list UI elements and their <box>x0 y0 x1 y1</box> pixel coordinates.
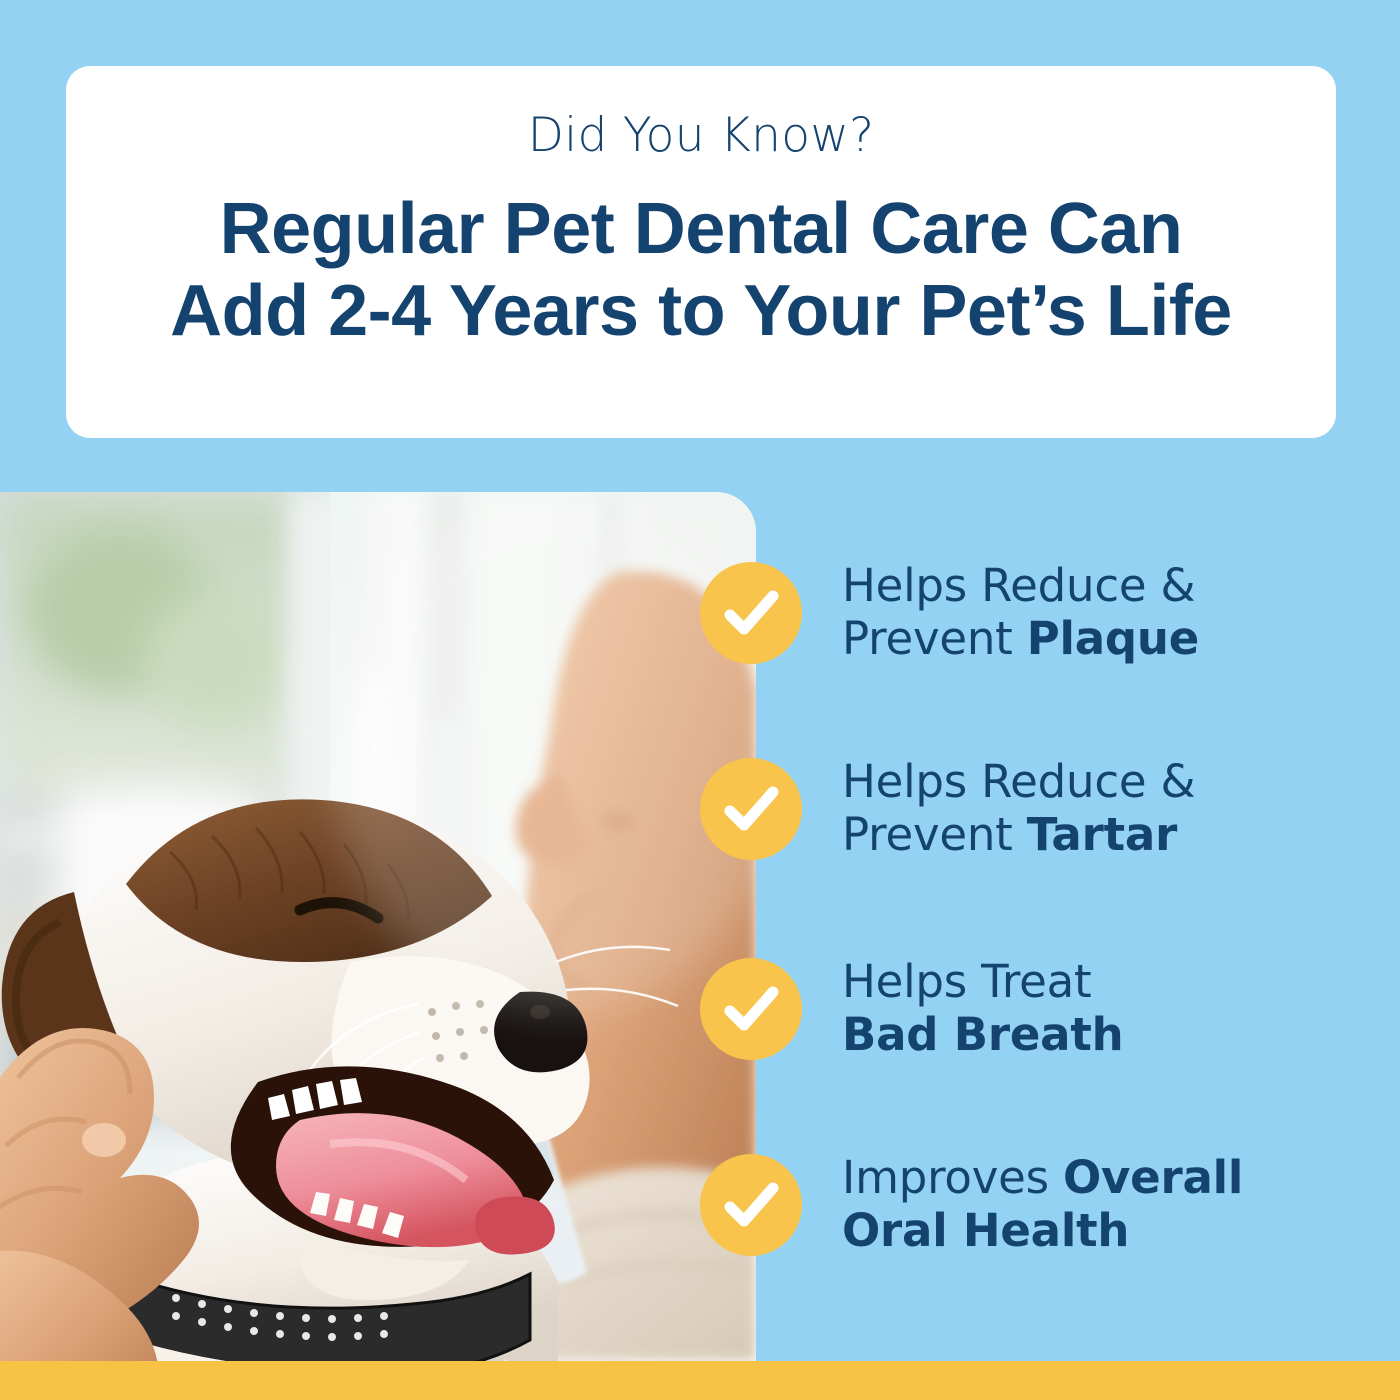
check-icon <box>700 758 802 860</box>
header-card: Did You Know? Regular Pet Dental Care Ca… <box>66 66 1336 438</box>
headline-line-1: Regular Pet Dental Care Can <box>170 188 1232 270</box>
benefit-emphasis: Tartar <box>1027 808 1177 861</box>
dog-photo-illustration <box>0 492 756 1361</box>
benefit-label: Helps Reduce & Prevent Plaque <box>842 560 1199 665</box>
page-title: Regular Pet Dental Care Can Add 2-4 Year… <box>170 188 1232 352</box>
bottom-accent-bar <box>0 1361 1400 1400</box>
benefits-list: Helps Reduce & Prevent Plaque Helps Redu… <box>700 560 1400 1360</box>
benefit-item-plaque: Helps Reduce & Prevent Plaque <box>700 560 1199 665</box>
benefit-emphasis: Plaque <box>1027 612 1199 665</box>
benefit-item-tartar: Helps Reduce & Prevent Tartar <box>700 756 1195 861</box>
infographic-canvas: Did You Know? Regular Pet Dental Care Ca… <box>0 0 1400 1400</box>
benefit-emphasis: Bad Breath <box>842 1008 1123 1061</box>
benefit-label: Helps Treat Bad Breath <box>842 956 1123 1061</box>
benefit-lead: Helps Treat <box>842 955 1091 1008</box>
benefit-label: Helps Reduce & Prevent Tartar <box>842 756 1195 861</box>
dog-photo <box>0 492 756 1361</box>
check-icon <box>700 1154 802 1256</box>
eyebrow-text: Did You Know? <box>528 110 875 162</box>
benefit-lead: Improves <box>842 1151 1063 1204</box>
benefit-item-oral-health: Improves Overall Oral Health <box>700 1152 1243 1257</box>
benefit-label: Improves Overall Oral Health <box>842 1152 1243 1257</box>
check-icon <box>700 958 802 1060</box>
benefit-item-bad-breath: Helps Treat Bad Breath <box>700 956 1123 1061</box>
headline-line-2: Add 2-4 Years to Your Pet’s Life <box>170 270 1232 352</box>
check-icon <box>700 562 802 664</box>
